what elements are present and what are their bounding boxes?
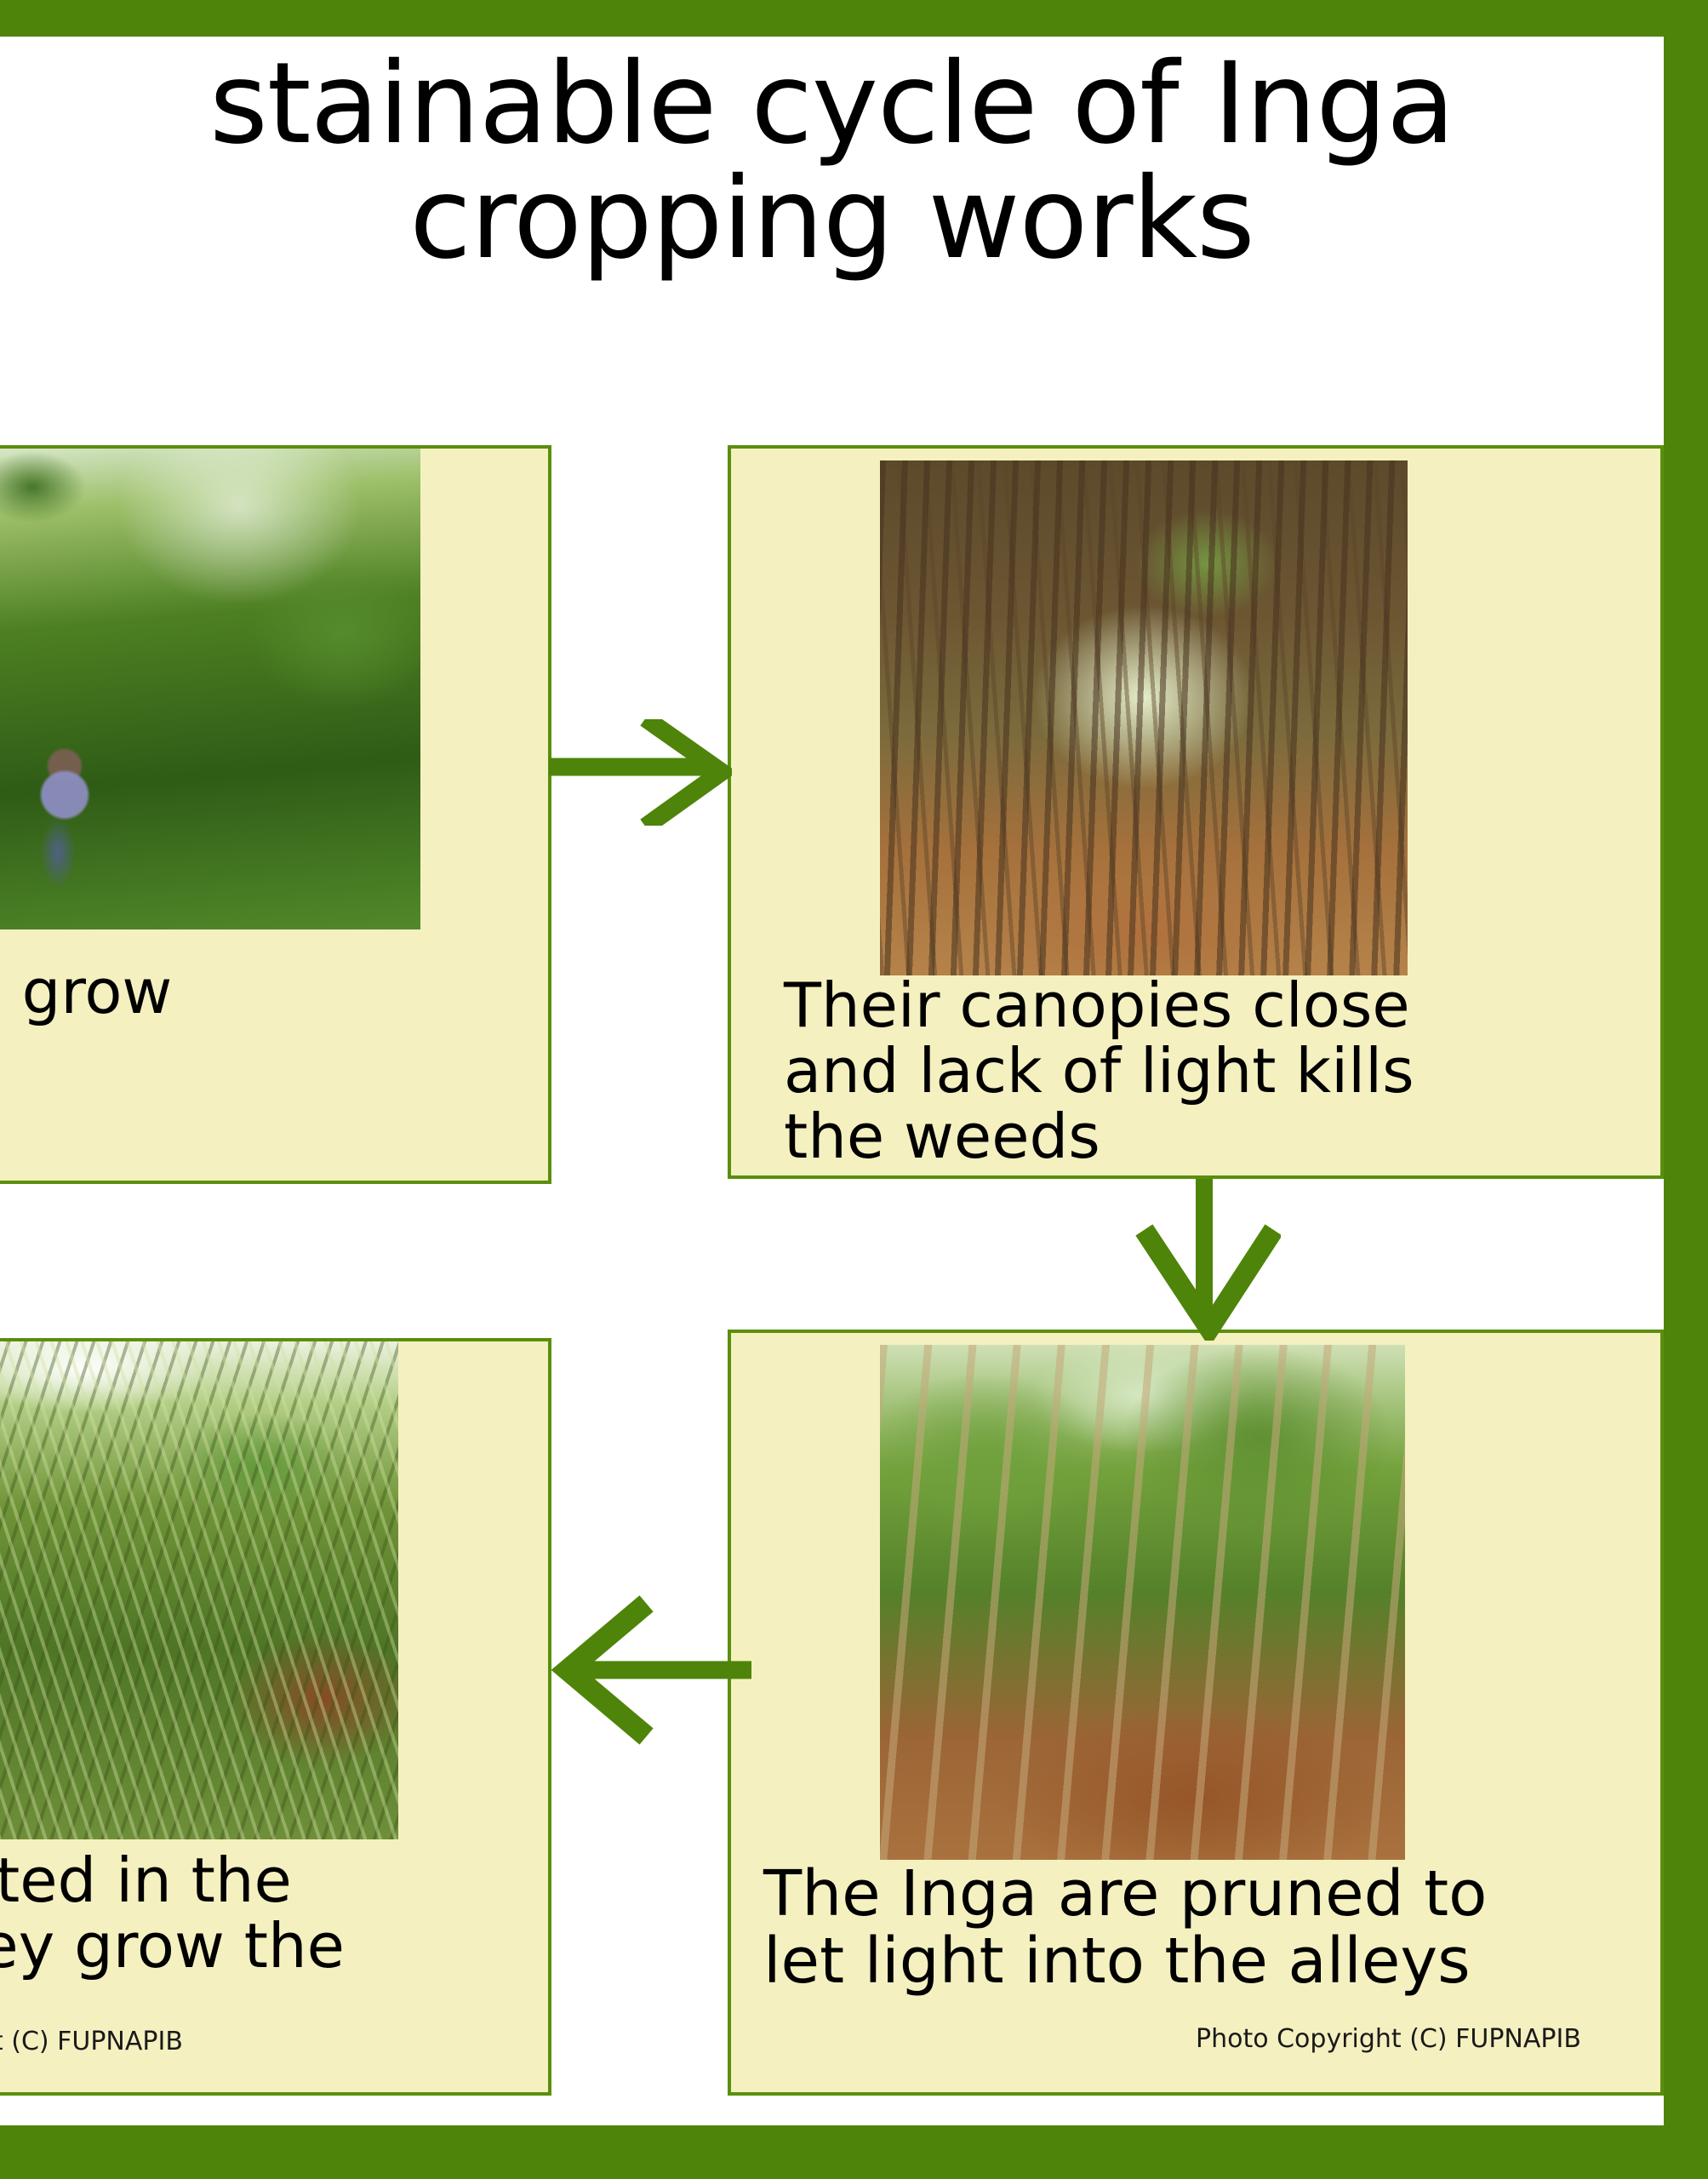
right-green-band [1664,0,1708,2179]
slide-title: stainable cycle of Inga cropping works [0,47,1664,276]
caption-pruned: The Inga are pruned to let light into th… [763,1861,1648,1995]
bottom-white-gap [0,2119,1632,2125]
photo-pineapple-crop-in-alley [0,1338,398,1839]
copyright-pruned: Photo Copyright (C) FUPNAPIB [1196,2024,1581,2054]
slide-canvas: stainable cycle of Inga cropping works g… [0,0,1708,2179]
arrow-left-icon [549,1592,753,1745]
copyright-planted: Photo Copyright (C) FUPNAPIB [0,2027,183,2056]
panel-canopy: Their canopies close and lack of light k… [728,445,1664,1179]
caption-grow: grow [0,959,420,1025]
panel-planted: anted in the s they grow the Photo Copyr… [0,1338,551,2096]
caption-planted: anted in the s they grow the [0,1848,437,1979]
photo-farmer-measuring-inga [0,449,420,929]
photo-workers-pruning-inga [880,1345,1405,1860]
panel-pruned: The Inga are pruned to let light into th… [728,1330,1664,2096]
arrow-right-icon [549,719,732,826]
top-green-band [0,0,1708,37]
bottom-green-band [0,2125,1708,2179]
caption-canopy: Their canopies close and lack of light k… [784,973,1660,1170]
panel-grow: grow [0,445,551,1184]
arrow-down-icon [1128,1179,1281,1341]
photo-inga-alley-closed-canopy [880,460,1408,975]
